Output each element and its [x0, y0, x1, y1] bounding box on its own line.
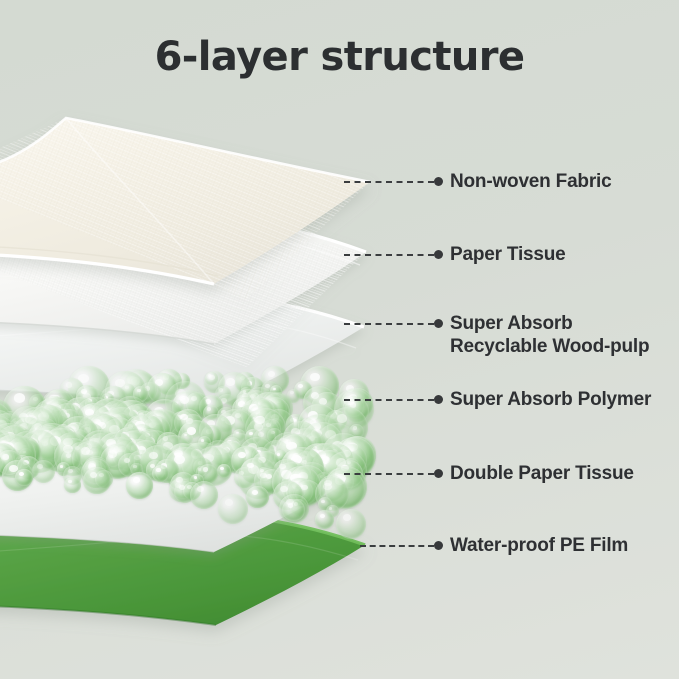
callout-dot-super-absorb-recyclable-wood-pulp — [434, 319, 443, 328]
callout-label-super-absorb-polymer: Super Absorb Polymer — [450, 388, 651, 411]
leader-line-paper-tissue — [344, 254, 434, 256]
callout-label-water-proof-pe-film: Water-proof PE Film — [450, 534, 628, 557]
layer-structure-infographic: 6-layer structure — [0, 0, 679, 679]
callout-dot-water-proof-pe-film — [434, 541, 443, 550]
leader-line-non-woven-fabric — [344, 181, 434, 183]
callout-dot-non-woven-fabric — [434, 177, 443, 186]
callout-label-double-paper-tissue: Double Paper Tissue — [450, 462, 634, 485]
callout-dot-paper-tissue — [434, 250, 443, 259]
callout-label-non-woven-fabric: Non-woven Fabric — [450, 170, 611, 193]
leader-line-super-absorb-polymer — [344, 399, 434, 401]
leader-line-super-absorb-recyclable-wood-pulp — [344, 323, 434, 325]
callout-label-paper-tissue: Paper Tissue — [450, 243, 566, 266]
leader-line-water-proof-pe-film — [360, 545, 434, 547]
callout-dot-super-absorb-polymer — [434, 395, 443, 404]
callout-dot-double-paper-tissue — [434, 469, 443, 478]
leader-line-double-paper-tissue — [344, 473, 434, 475]
callout-label-super-absorb-recyclable-wood-pulp: Super Absorb Recyclable Wood-pulp — [450, 312, 649, 358]
